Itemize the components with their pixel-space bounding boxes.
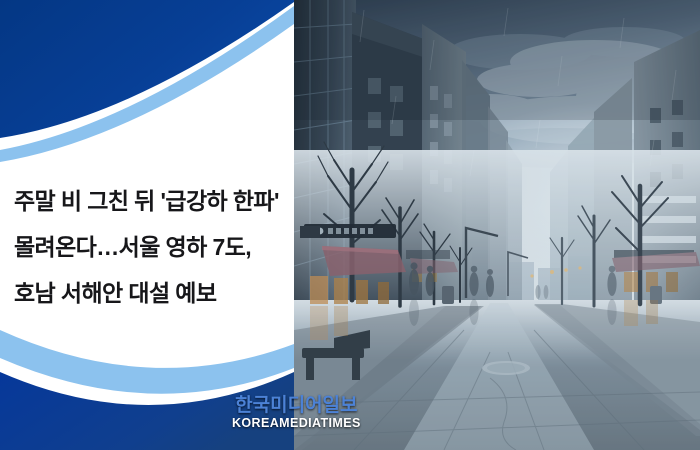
logo-korean-text: 한국미디어일보	[232, 396, 361, 415]
headline-line-2: 몰려온다…서울 영하 7도,	[14, 224, 294, 270]
news-thumbnail-card: 주말 비 그친 뒤 '급강하 한파' 몰려온다…서울 영하 7도, 호남 서해안…	[0, 0, 700, 450]
headline-line-3: 호남 서해안 대설 예보	[14, 270, 294, 316]
headline: 주말 비 그친 뒤 '급강하 한파' 몰려온다…서울 영하 7도, 호남 서해안…	[14, 178, 294, 316]
publisher-logo: 한국미디어일보 KOREAMEDIATIMES	[232, 396, 361, 430]
city-street-rain-photo	[294, 0, 700, 450]
headline-line-1: 주말 비 그친 뒤 '급강하 한파'	[14, 178, 294, 224]
left-text-panel: 주말 비 그친 뒤 '급강하 한파' 몰려온다…서울 영하 7도, 호남 서해안…	[0, 0, 294, 450]
logo-english-text: KOREAMEDIATIMES	[232, 417, 361, 430]
photo-artwork	[294, 0, 700, 450]
